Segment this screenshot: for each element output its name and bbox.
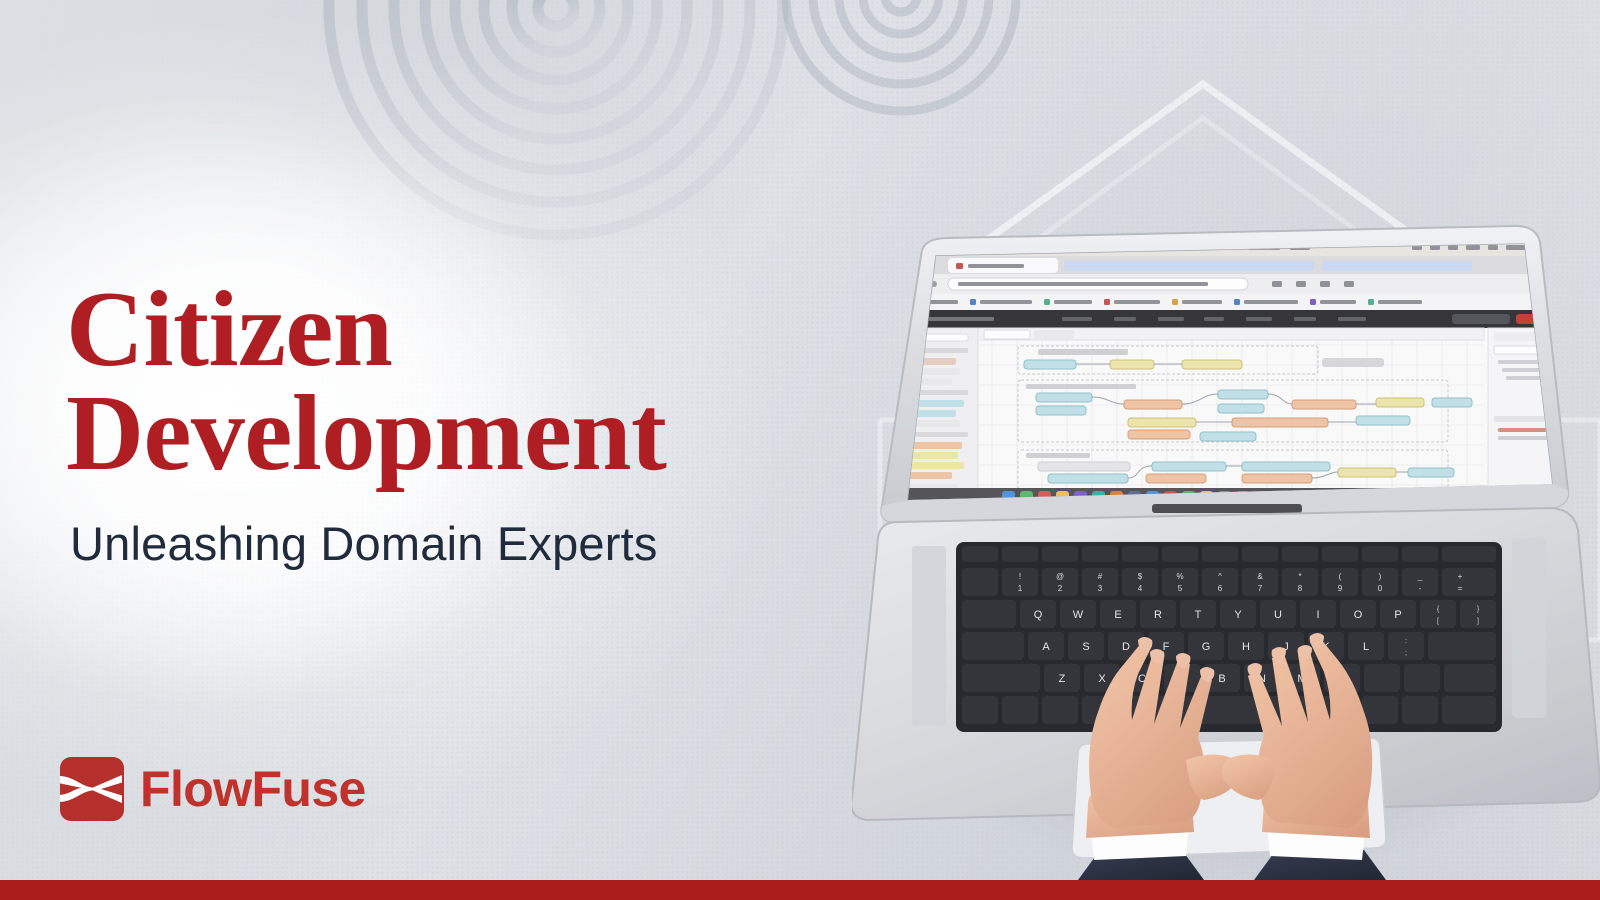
- page-title: Citizen Development: [66, 278, 826, 485]
- flowfuse-wordmark: FlowFuse: [140, 764, 366, 814]
- flowfuse-logo-icon: [60, 757, 124, 821]
- flowfuse-logo[interactable]: FlowFuse: [60, 757, 366, 821]
- page-subtitle: Unleashing Domain Experts: [70, 519, 826, 568]
- headline-block: Citizen Development Unleashing Domain Ex…: [66, 278, 826, 569]
- hands-typing-on-laptop-photo: !1 @2 #3 $4 %5 ^6 &7 *8 (9 )0 _- +=: [852, 60, 1600, 880]
- bottom-accent-bar: [0, 880, 1600, 900]
- slide-canvas: !1 @2 #3 $4 %5 ^6 &7 *8 (9 )0 _- +=: [0, 0, 1600, 900]
